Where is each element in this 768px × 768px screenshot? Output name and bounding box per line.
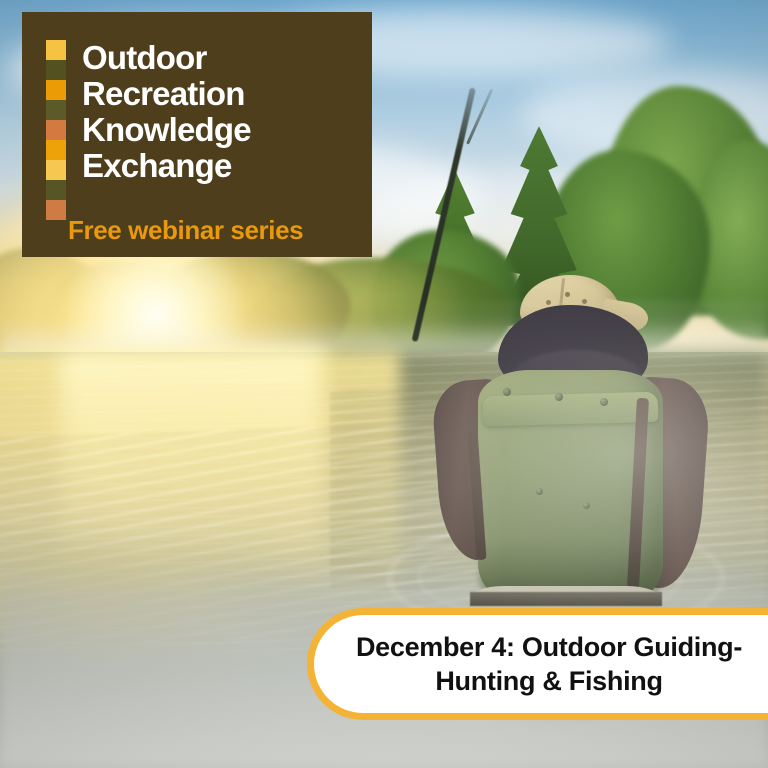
swatch-olive-3	[46, 180, 66, 200]
swatch-olive-2	[46, 100, 66, 120]
logo-word-exchange: Exchange	[82, 148, 251, 184]
logo-word-outdoor: Outdoor	[82, 40, 251, 76]
swatch-yellow-1	[46, 40, 66, 60]
logo-word-recreation: Recreation	[82, 76, 251, 112]
swatch-yellow-2	[46, 160, 66, 180]
logo-swatch-column	[46, 40, 66, 220]
event-banner-text: December 4: Outdoor Guiding- Hunting & F…	[348, 630, 750, 698]
logo-tagline: Free webinar series	[68, 215, 303, 246]
swatch-olive-1	[46, 60, 66, 80]
logo-words: Outdoor Recreation Knowledge Exchange	[82, 40, 251, 220]
poster-canvas: Outdoor Recreation Knowledge Exchange Fr…	[0, 0, 768, 768]
logo-word-knowledge: Knowledge	[82, 112, 251, 148]
logo-wordmark: Outdoor Recreation Knowledge Exchange	[46, 40, 251, 220]
event-banner-line-2: Hunting & Fishing	[435, 666, 662, 696]
event-banner-line-1: December 4: Outdoor Guiding-	[356, 632, 742, 662]
swatch-terracotta-2	[46, 200, 66, 220]
swatch-terracotta-1	[46, 120, 66, 140]
swatch-orange-2	[46, 140, 66, 160]
event-banner: December 4: Outdoor Guiding- Hunting & F…	[307, 608, 768, 720]
logo-block: Outdoor Recreation Knowledge Exchange Fr…	[22, 12, 372, 257]
swatch-orange-1	[46, 80, 66, 100]
